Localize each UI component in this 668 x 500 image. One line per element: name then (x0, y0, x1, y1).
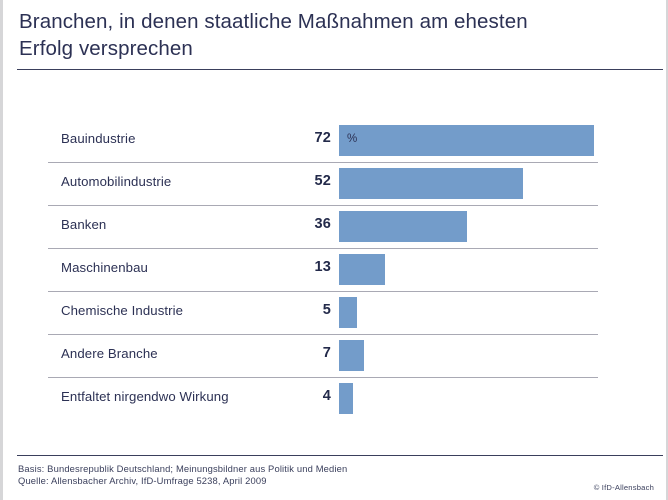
footer-quelle: Quelle: Allensbacher Archiv, IfD-Umfrage… (18, 475, 267, 488)
title-line-2: Erfolg versprechen (19, 35, 659, 62)
category-label: Banken (61, 217, 106, 232)
value-label: 5 (271, 302, 331, 318)
chart-row: Automobilindustrie52 (3, 163, 668, 206)
footer-basis: Basis: Bundesrepublik Deutschland; Meinu… (18, 463, 347, 476)
page-title: Branchen, in denen staatliche Maßnahmen … (19, 8, 659, 62)
chart-row: Bauindustrie72% (3, 120, 668, 163)
value-label: 36 (271, 216, 331, 232)
slide-canvas: Branchen, in denen staatliche Maßnahmen … (0, 0, 668, 500)
bar (339, 254, 385, 285)
value-label: 13 (271, 259, 331, 275)
value-label: 72 (271, 130, 331, 146)
chart-row: Entfaltet nirgendwo Wirkung4 (3, 378, 668, 421)
category-label: Chemische Industrie (61, 303, 183, 318)
footer-copyright: © IfD-Allensbach (594, 483, 654, 492)
category-label: Automobilindustrie (61, 174, 171, 189)
value-label: 7 (271, 345, 331, 361)
category-label: Maschinenbau (61, 260, 148, 275)
bar: % (339, 125, 594, 156)
bar (339, 211, 467, 242)
title-line-1: Branchen, in denen staatliche Maßnahmen … (19, 8, 659, 35)
bar (339, 340, 364, 371)
bar (339, 383, 353, 414)
category-label: Andere Branche (61, 346, 158, 361)
chart-row: Banken36 (3, 206, 668, 249)
chart-row: Maschinenbau13 (3, 249, 668, 292)
percent-unit-label: % (347, 132, 357, 146)
footer-divider (17, 455, 663, 456)
value-label: 4 (271, 388, 331, 404)
category-label: Entfaltet nirgendwo Wirkung (61, 389, 229, 404)
bar-chart: Bauindustrie72%Automobilindustrie52Banke… (3, 120, 668, 440)
bar (339, 168, 523, 199)
chart-row: Chemische Industrie5 (3, 292, 668, 335)
value-label: 52 (271, 173, 331, 189)
chart-row: Andere Branche7 (3, 335, 668, 378)
bar (339, 297, 357, 328)
category-label: Bauindustrie (61, 131, 136, 146)
title-divider (17, 69, 663, 70)
